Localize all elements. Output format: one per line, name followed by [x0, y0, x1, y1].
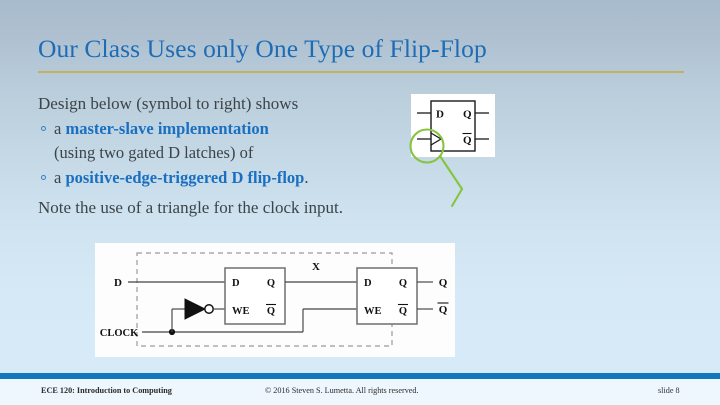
bullet-tail-text: . — [304, 168, 308, 187]
clock-inverter-bubble-icon — [205, 305, 213, 313]
bullet-circle-icon — [41, 126, 46, 131]
intro-line: Design below (symbol to right) shows — [38, 92, 458, 117]
circuit-diagram-panel: D CLOCK D Q WE Q X — [95, 243, 455, 357]
internal-signal-label-x: X — [312, 261, 320, 273]
slave-latch-pin-d: D — [364, 278, 372, 289]
circuit-diagram-svg: D CLOCK D Q WE Q X — [95, 243, 455, 357]
bullet-lead-text: a — [54, 168, 65, 187]
bullet-lead-text: a — [54, 119, 65, 138]
flip-flop-symbol-panel: D Q Q — [411, 94, 495, 157]
clock-inverter-triangle-icon — [185, 299, 205, 319]
master-latch-pin-q: Q — [267, 278, 275, 289]
symbol-pin-label-qbar: Q — [463, 135, 472, 147]
master-latch-pin-we: WE — [232, 306, 250, 317]
bullet-circle-icon — [41, 175, 46, 180]
bullet-continuation-line: (using two gated D latches) of — [38, 141, 458, 166]
circuit-input-label-clock: CLOCK — [100, 328, 139, 339]
slide-canvas: Our Class Uses only One Type of Flip-Flo… — [0, 0, 720, 405]
circuit-input-label-d: D — [114, 277, 122, 289]
footer: ECE 120: Introduction to Computing © 201… — [0, 379, 720, 405]
bullet-emphasis-text: master-slave implementation — [65, 119, 268, 138]
footer-slide-number: slide 8 — [658, 386, 680, 395]
bullet-item-positive-edge: a positive-edge-triggered D flip-flop. — [38, 166, 458, 191]
flip-flop-symbol-svg: D Q Q — [411, 94, 495, 157]
symbol-pin-label-d: D — [436, 109, 444, 121]
circuit-output-label-qbar: Q — [439, 304, 448, 316]
symbol-pin-label-q: Q — [463, 109, 472, 121]
title-underline-rule — [38, 71, 684, 73]
clock-triangle-icon — [431, 133, 441, 145]
footer-copyright-label: © 2016 Steven S. Lumetta. All rights res… — [265, 386, 419, 395]
circuit-output-label-q: Q — [439, 277, 448, 289]
slave-latch-pin-q: Q — [399, 278, 407, 289]
master-latch-pin-qbar: Q — [267, 306, 275, 317]
slave-latch-pin-qbar: Q — [399, 306, 407, 317]
note-line: Note the use of a triangle for the clock… — [38, 196, 458, 221]
slave-latch-pin-we: WE — [364, 306, 382, 317]
bullet-emphasis-text: positive-edge-triggered D flip-flop — [65, 168, 304, 187]
bullet-item-master-slave: a master-slave implementation — [38, 117, 458, 142]
page-title: Our Class Uses only One Type of Flip-Flo… — [38, 34, 688, 64]
footer-course-label: ECE 120: Introduction to Computing — [41, 386, 172, 395]
body-content: Design below (symbol to right) shows a m… — [38, 92, 458, 221]
master-latch-pin-d: D — [232, 278, 240, 289]
